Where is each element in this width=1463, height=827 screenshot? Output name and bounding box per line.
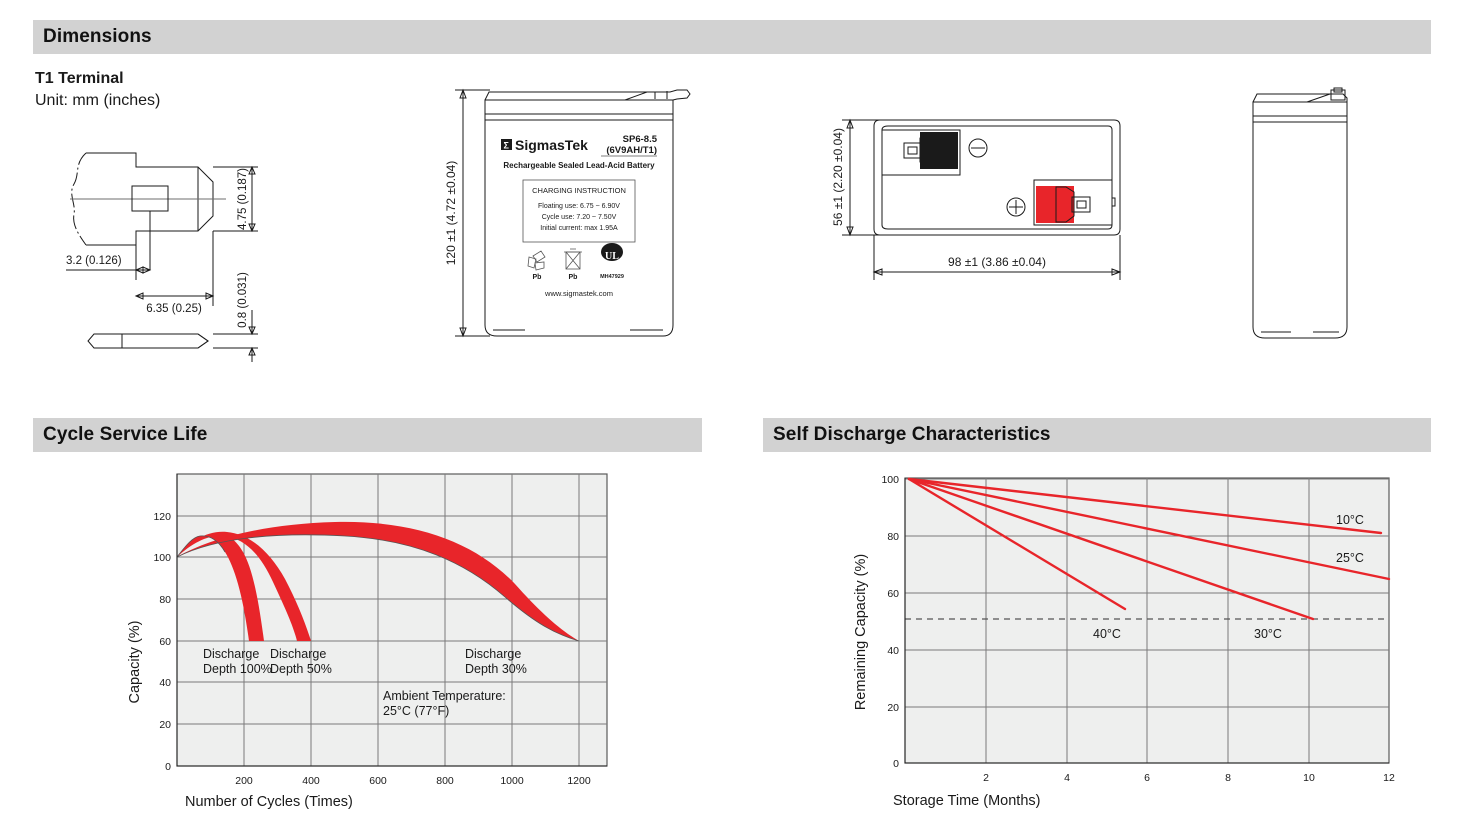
t1-terminal-drawing: 4.75 (0.187) 3.2 (0.126) 6.35 (0.25) 0.8…: [30, 130, 330, 370]
svg-text:600: 600: [369, 775, 387, 787]
battery-top-view: 56 ±1 (2.20 ±0.04) 98 ±1 (3.86 ±0.04): [820, 80, 1150, 310]
svg-text:2: 2: [983, 772, 989, 784]
y-axis-title-cycle: Capacity (%): [127, 621, 143, 704]
section-header-dimensions: Dimensions: [33, 20, 1431, 54]
positive-terminal-pad: [1036, 186, 1074, 223]
annotation-dd100-line2: Depth 100%: [203, 662, 272, 676]
x-ticks-cycle: 200 400 600 800 1000 1200: [235, 775, 591, 787]
svg-text:200: 200: [235, 775, 253, 787]
chart-cycle-service-life: 120 100 80 60 40 20 0 200 400 600 800 10…: [115, 462, 675, 812]
negative-polarity-icon: [969, 139, 987, 157]
svg-text:10: 10: [1303, 772, 1315, 784]
annotation-dd50-line2: Depth 50%: [270, 662, 332, 676]
svg-text:20: 20: [887, 702, 899, 714]
annotation-dd100-line1: Discharge: [203, 647, 259, 661]
unit-note: Unit: mm (inches): [35, 92, 160, 110]
svg-text:4: 4: [1064, 772, 1070, 784]
y-ticks-self: 100 80 60 40 20 0: [881, 474, 899, 770]
svg-text:100: 100: [153, 552, 171, 564]
svg-text:12: 12: [1383, 772, 1395, 784]
positive-polarity-icon: [1007, 198, 1025, 216]
svg-text:6: 6: [1144, 772, 1150, 784]
no-bin-pb-icon: Pb: [564, 249, 582, 281]
dim-battery-depth: 56 ±1 (2.20 ±0.04): [831, 128, 845, 226]
brand-name: SigmasTek: [515, 137, 588, 153]
battery-website: www.sigmastek.com: [544, 289, 613, 298]
charging-line-1: Floating use: 6.75 ~ 6.90V: [538, 203, 620, 210]
battery-subtitle: Rechargeable Sealed Lead-Acid Battery: [503, 161, 655, 170]
dim-terminal-thickness: 0.8 (0.031): [237, 272, 249, 328]
annotation-ambient-line1: Ambient Temperature:: [383, 689, 506, 703]
charging-instruction-title: CHARGING INSTRUCTION: [532, 186, 626, 195]
no-bin-pb-label: Pb: [569, 274, 578, 281]
sigma-logo-icon: Σ: [504, 141, 510, 151]
section-title-self-discharge: Self Discharge Characteristics: [773, 424, 1051, 446]
model-spec: (6V9AH/T1): [606, 145, 657, 156]
label-series-40C: 40°C: [1093, 627, 1121, 641]
svg-text:UL: UL: [605, 251, 619, 262]
ul-file-number: MH47929: [600, 274, 624, 280]
y-axis-title-self: Remaining Capacity (%): [853, 554, 869, 710]
svg-text:40: 40: [159, 677, 171, 689]
svg-text:80: 80: [159, 594, 171, 606]
terminal-type-title: T1 Terminal: [35, 70, 124, 88]
charging-line-2: Cycle use: 7.20 ~ 7.50V: [542, 214, 617, 221]
x-axis-title-cycle: Number of Cycles (Times): [185, 794, 353, 810]
dim-battery-height: 120 ±1 (4.72 ±0.04): [444, 161, 458, 266]
svg-text:40: 40: [887, 645, 899, 657]
svg-text:800: 800: [436, 775, 454, 787]
label-series-30C: 30°C: [1254, 627, 1282, 641]
svg-text:60: 60: [159, 636, 171, 648]
annotation-ambient-line2: 25°C (77°F): [383, 704, 449, 718]
chart-self-discharge: 10°C 25°C 30°C 40°C 100 80 60 40 20 0 2 …: [845, 462, 1425, 812]
svg-text:20: 20: [159, 719, 171, 731]
dim-battery-width: 98 ±1 (3.86 ±0.04): [948, 255, 1046, 269]
model-number: SP6-8.5: [623, 134, 658, 145]
x-axis-title-self: Storage Time (Months): [893, 793, 1040, 809]
svg-text:120: 120: [153, 511, 171, 523]
dim-terminal-width: 6.35 (0.25): [146, 303, 202, 315]
annotation-dd50-line1: Discharge: [270, 647, 326, 661]
svg-text:1200: 1200: [567, 775, 591, 787]
ul-mark-icon: UL MH47929: [600, 243, 624, 280]
charging-line-3: Initial current: max 1.95A: [540, 225, 618, 232]
label-series-25C: 25°C: [1336, 551, 1364, 565]
battery-front-view: 120 ±1 (4.72 ±0.04) Σ SigmasTek SP6-8.5 …: [415, 80, 715, 350]
section-title-dimensions: Dimensions: [43, 26, 152, 48]
svg-text:0: 0: [165, 761, 171, 773]
section-header-self-discharge: Self Discharge Characteristics: [763, 418, 1431, 452]
annotation-dd30-line1: Discharge: [465, 647, 521, 661]
svg-text:100: 100: [881, 474, 899, 486]
svg-text:1000: 1000: [500, 775, 524, 787]
svg-text:60: 60: [887, 588, 899, 600]
x-ticks-self: 2 4 6 8 10 12: [983, 772, 1395, 784]
annotation-dd30-line2: Depth 30%: [465, 662, 527, 676]
svg-text:400: 400: [302, 775, 320, 787]
y-ticks-cycle: 120 100 80 60 40 20 0: [153, 511, 171, 773]
negative-terminal-pad: [920, 132, 958, 169]
recycle-pb-label: Pb: [533, 274, 542, 281]
svg-text:0: 0: [893, 758, 899, 770]
section-title-cycle: Cycle Service Life: [43, 424, 207, 446]
recycle-pb-icon: Pb: [528, 251, 545, 281]
dim-terminal-height: 4.75 (0.187): [237, 168, 249, 230]
label-series-10C: 10°C: [1336, 513, 1364, 527]
svg-text:80: 80: [887, 531, 899, 543]
dim-terminal-offset: 3.2 (0.126): [66, 255, 122, 267]
svg-text:8: 8: [1225, 772, 1231, 784]
section-header-cycle-service-life: Cycle Service Life: [33, 418, 702, 452]
battery-side-view: [1235, 82, 1365, 352]
